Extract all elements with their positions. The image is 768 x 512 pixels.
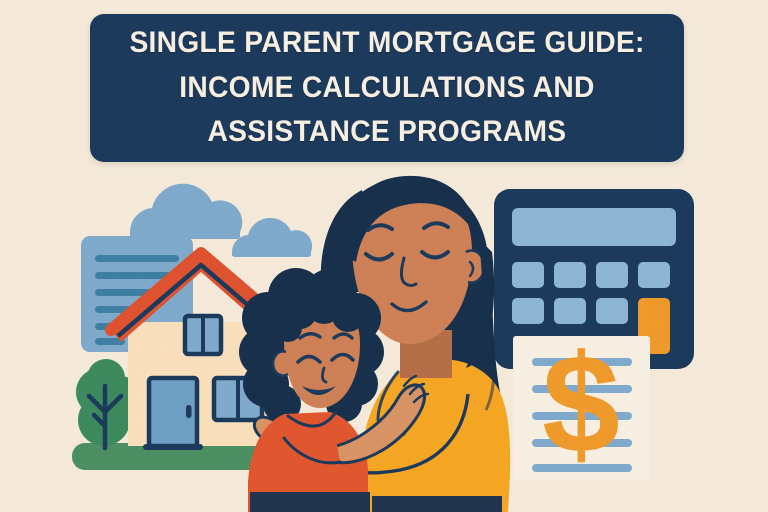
infographic-canvas: $ [0,0,768,512]
title-line-3: ASSISTANCE PROGRAMS [208,111,567,154]
dollar-symbol: $ [542,325,620,482]
mother-pants [372,496,502,512]
title-banner: SINGLE PARENT MORTGAGE GUIDE: INCOME CAL… [90,14,684,162]
dollar-statement-icon: $ [513,325,650,482]
calculator-display [512,208,676,246]
title-line-1: SINGLE PARENT MORTGAGE GUIDE: [129,22,644,65]
title-line-2: INCOME CALCULATIONS AND [179,67,594,110]
